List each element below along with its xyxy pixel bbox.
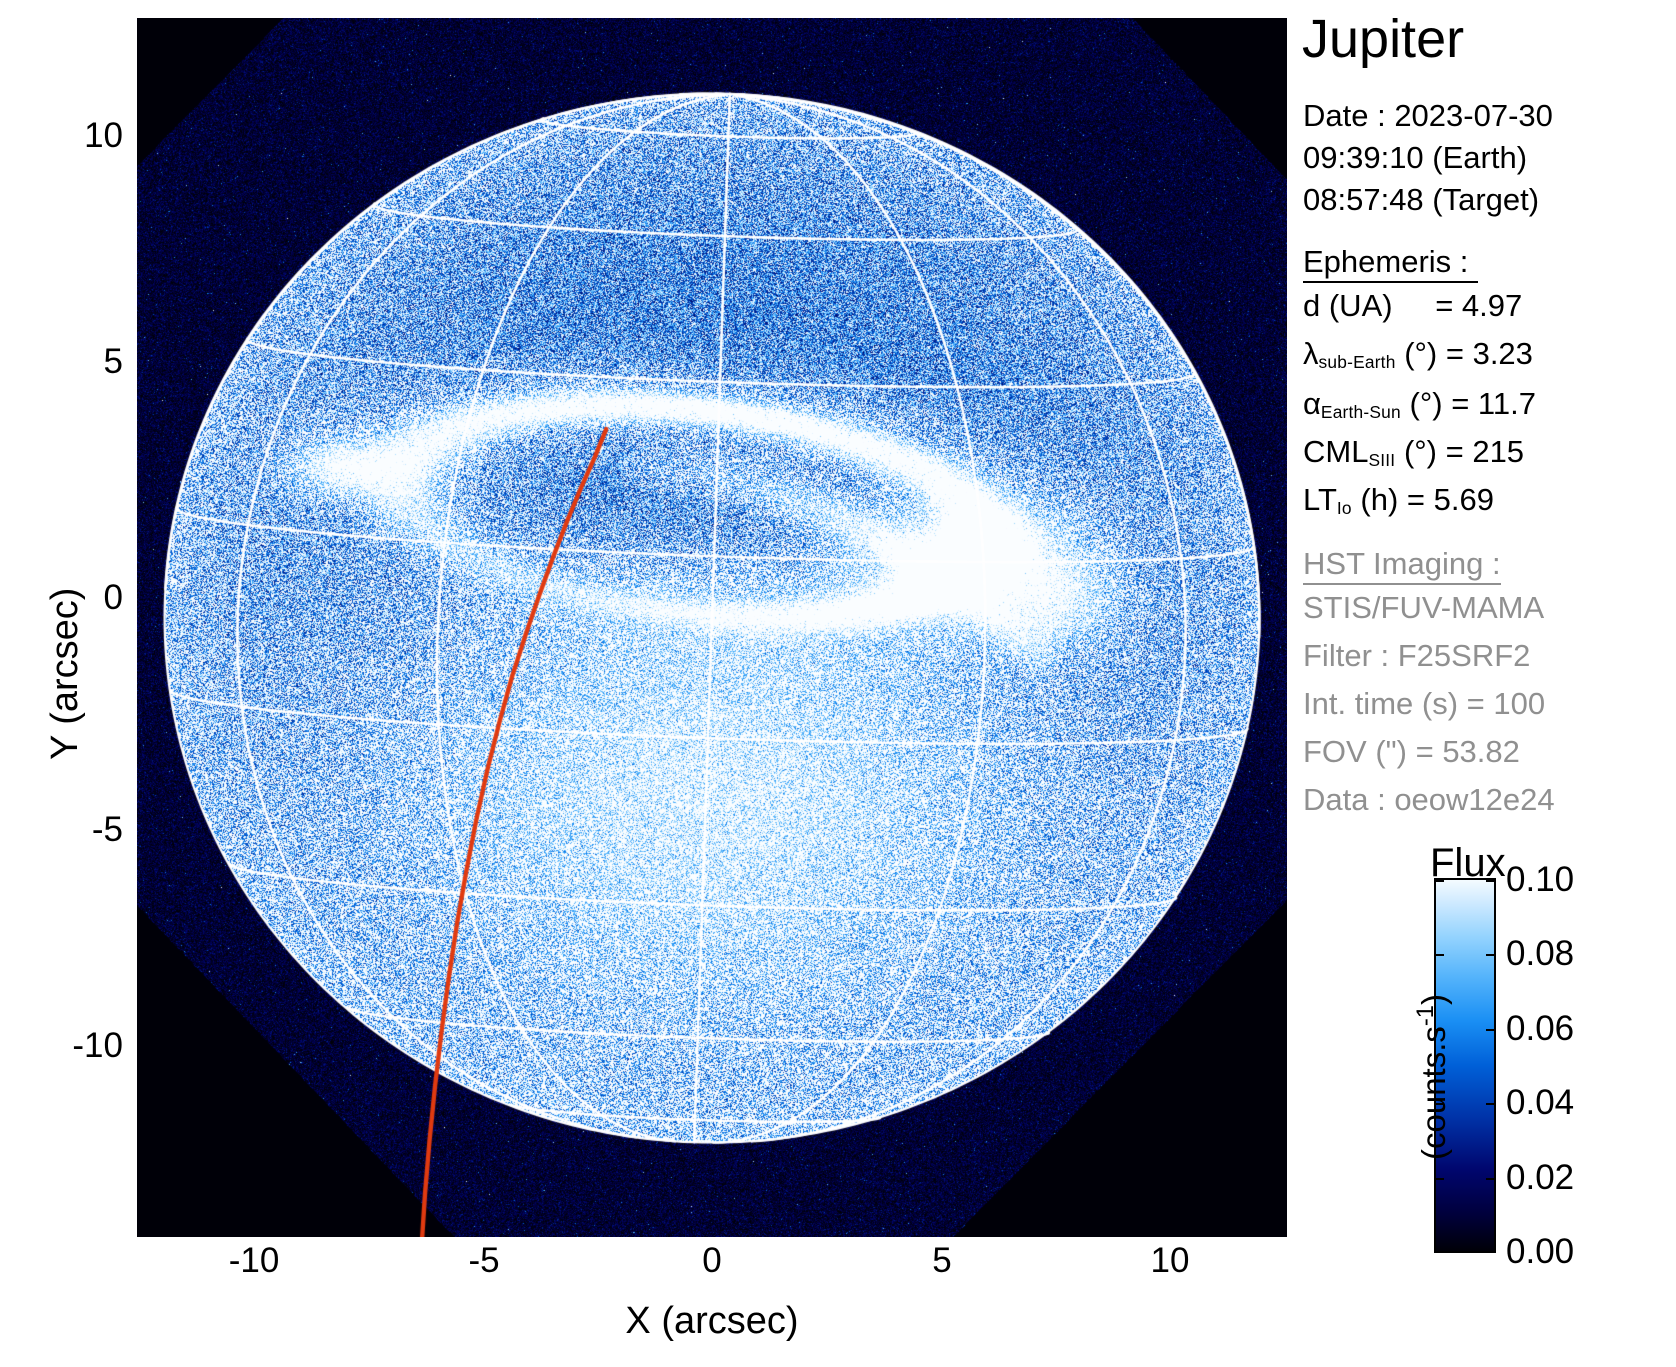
x-tick-label: -10 xyxy=(184,1243,324,1278)
observation-date: Date : 2023-07-30 xyxy=(1303,100,1553,131)
ephemeris-unit: (°) xyxy=(1404,434,1437,469)
colorbar-tick xyxy=(1486,1029,1496,1031)
colorbar-unit-exponent: -1 xyxy=(1412,1005,1439,1026)
colorbar-tick-label: 0.10 xyxy=(1506,862,1574,897)
x-tick-label: 0 xyxy=(642,1243,782,1278)
colorbar-tick xyxy=(1434,954,1444,956)
ephemeris-value: = 11.7 xyxy=(1451,386,1536,421)
x-tick-label: 10 xyxy=(1100,1243,1240,1278)
ephemeris-row-cml: CMLSIII (°) = 215 xyxy=(1303,436,1524,469)
colorbar-tick-label: 0.08 xyxy=(1506,936,1574,971)
jupiter-aurora-heatmap xyxy=(137,18,1287,1237)
ephemeris-value: = 215 xyxy=(1446,434,1524,469)
ephemeris-heading: Ephemeris : xyxy=(1303,246,1468,277)
colorbar-unit-label: (counts.s-1) xyxy=(1412,994,1453,1160)
x-tick-label: -5 xyxy=(414,1243,554,1278)
x-axis-label: X (arcsec) xyxy=(562,1300,862,1343)
ephemeris-unit: (°) xyxy=(1404,336,1437,371)
colorbar-tick-label: 0.00 xyxy=(1506,1234,1574,1269)
colorbar-tick-label: 0.02 xyxy=(1506,1160,1574,1195)
hst-filter: Filter : F25SRF2 xyxy=(1303,640,1530,671)
hst-dataset-id: Data : oeow12e24 xyxy=(1303,784,1555,815)
hst-instrument: STIS/FUV-MAMA xyxy=(1303,592,1544,623)
ephemeris-value: = 4.97 xyxy=(1435,288,1522,323)
ephemeris-value: = 5.69 xyxy=(1407,482,1494,517)
colorbar-tick xyxy=(1486,1103,1496,1105)
page-title: Jupiter xyxy=(1302,12,1464,66)
ephemeris-symbol: α xyxy=(1303,386,1321,421)
ephemeris-unit: (h) xyxy=(1360,482,1398,517)
ephemeris-value: = 3.23 xyxy=(1446,336,1533,371)
y-tick-label: -10 xyxy=(3,1028,123,1063)
colorbar-tick xyxy=(1434,1178,1444,1180)
ephemeris-subscript: Earth-Sun xyxy=(1321,402,1401,422)
y-tick-label: 10 xyxy=(3,118,123,153)
ephemeris-row-sub-earth-lat: λsub-Earth (°) = 3.23 xyxy=(1303,338,1533,371)
ephemeris-row-phase-angle: αEarth-Sun (°) = 11.7 xyxy=(1303,388,1536,421)
colorbar-title: Flux xyxy=(1430,843,1506,883)
colorbar-unit-close: ) xyxy=(1415,994,1452,1005)
colorbar-tick xyxy=(1486,880,1496,882)
ephemeris-subscript: Io xyxy=(1337,498,1352,518)
ephemeris-unit: (°) xyxy=(1410,386,1443,421)
colorbar-tick xyxy=(1434,880,1444,882)
observation-time-target: 08:57:48 (Target) xyxy=(1303,184,1539,215)
colorbar-unit-text: (counts.s xyxy=(1415,1026,1452,1160)
ephemeris-symbol: λ xyxy=(1303,336,1319,371)
ephemeris-symbol: CML xyxy=(1303,434,1368,469)
x-tick-label: 5 xyxy=(872,1243,1012,1278)
colorbar-tick xyxy=(1486,954,1496,956)
hst-integration-time: Int. time (s) = 100 xyxy=(1303,688,1545,719)
hst-imaging-heading: HST Imaging : xyxy=(1303,548,1501,579)
aurora-image-plot xyxy=(137,18,1287,1237)
ephemeris-subscript: SIII xyxy=(1368,450,1395,470)
colorbar-tick xyxy=(1486,1178,1496,1180)
ephemeris-symbol: LT xyxy=(1303,482,1337,517)
hst-fov: FOV (") = 53.82 xyxy=(1303,736,1520,767)
ephemeris-subscript: sub-Earth xyxy=(1319,352,1396,372)
colorbar-tick-label: 0.04 xyxy=(1506,1085,1574,1120)
ephemeris-row-io-local-time: LTIo (h) = 5.69 xyxy=(1303,484,1494,517)
ephemeris-row-distance: d (UA) = 4.97 xyxy=(1303,290,1522,321)
colorbar-tick-label: 0.06 xyxy=(1506,1011,1574,1046)
ephemeris-divider xyxy=(1303,281,1478,283)
y-tick-label: 5 xyxy=(3,344,123,379)
y-tick-label: -5 xyxy=(3,812,123,847)
observation-time-earth: 09:39:10 (Earth) xyxy=(1303,142,1527,173)
hst-imaging-divider xyxy=(1303,583,1501,585)
ephemeris-symbol: d (UA) xyxy=(1303,288,1393,323)
y-axis-label: Y (arcsec) xyxy=(44,588,87,760)
